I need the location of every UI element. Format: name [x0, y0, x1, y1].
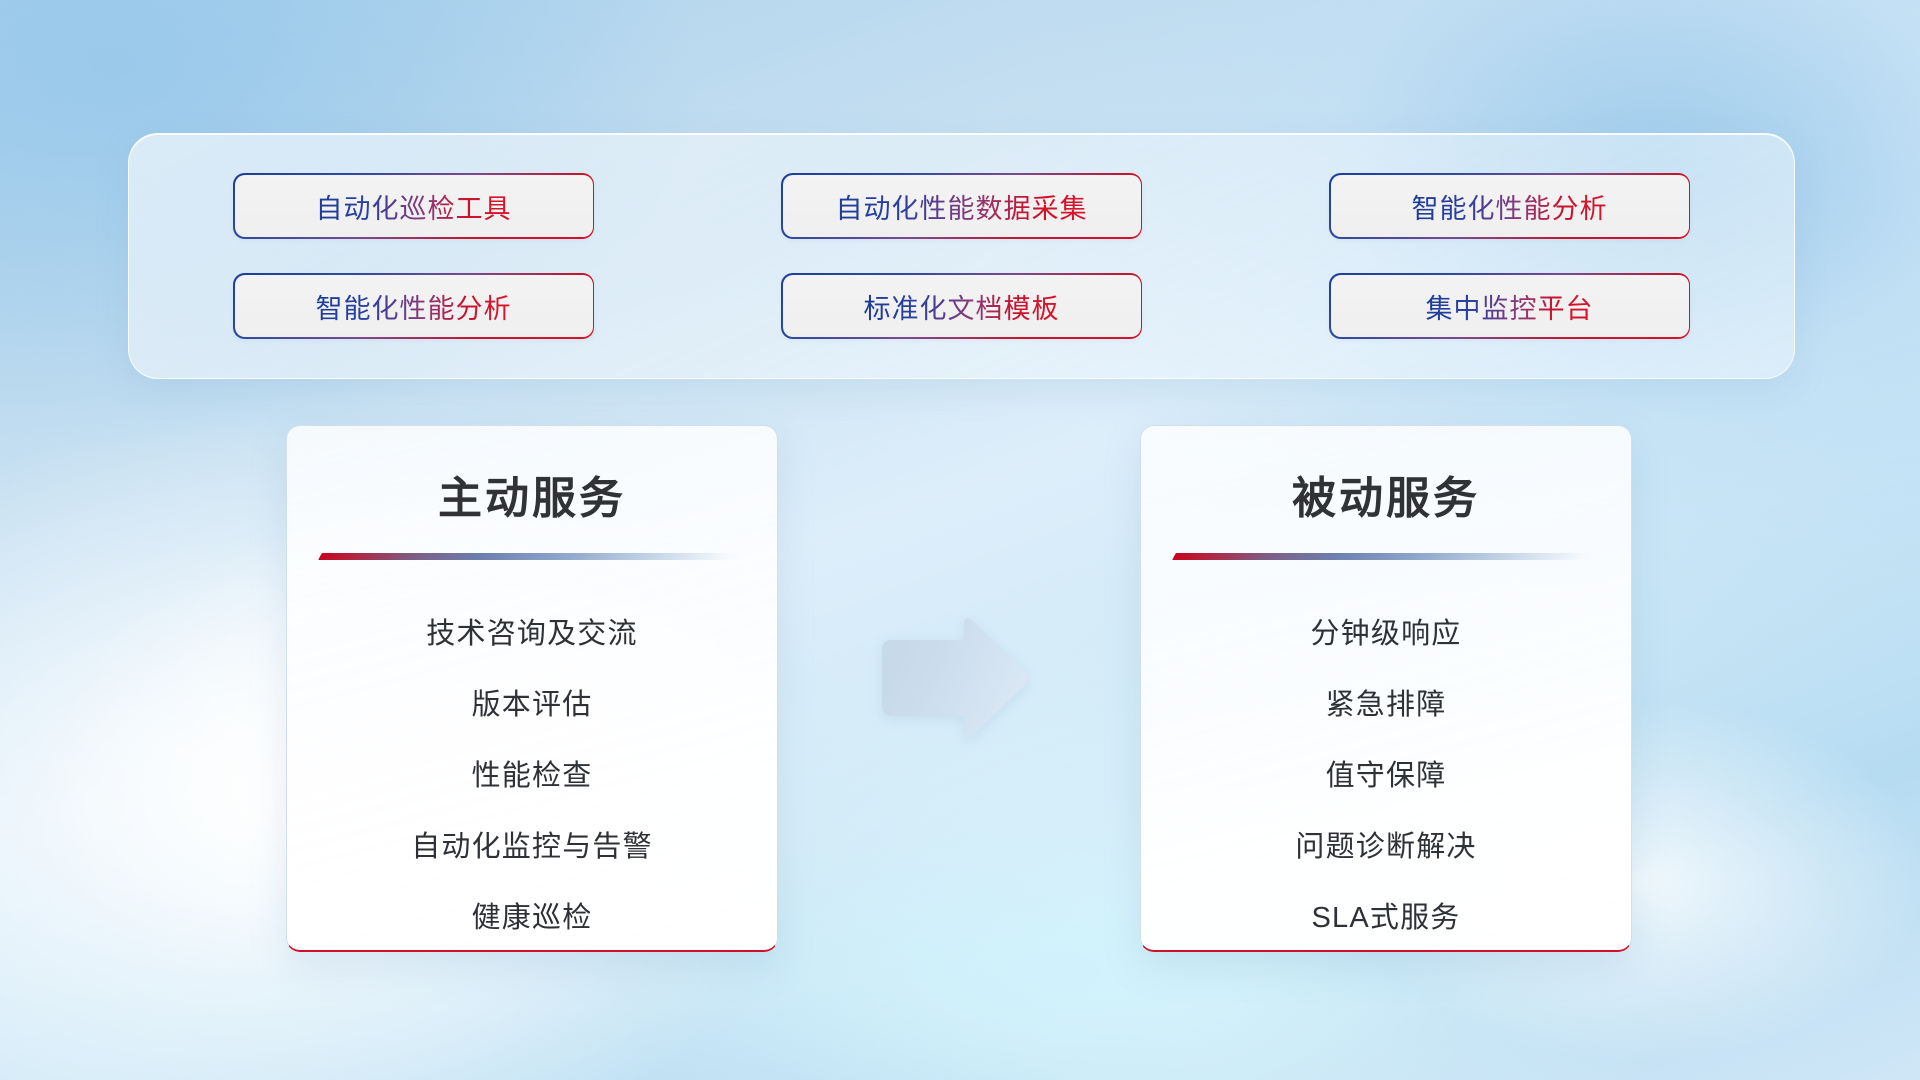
- service-list-item: 分钟级响应: [1141, 599, 1631, 670]
- slide-canvas: 自动化巡检工具 自动化性能数据采集 智能化性能分析 智能化性能分析 标准化文档模…: [0, 0, 1920, 1080]
- capability-chip-grid: 自动化巡检工具 自动化性能数据采集 智能化性能分析 智能化性能分析 标准化文档模…: [235, 175, 1689, 337]
- service-list-item: 紧急排障: [1141, 670, 1631, 741]
- capability-chip-intelligent-performance-analysis-top[interactable]: 智能化性能分析: [1331, 175, 1689, 237]
- chip-label: 智能化性能分析: [1412, 187, 1608, 226]
- service-list-item: SLA式服务: [1141, 883, 1631, 952]
- capability-panel: 自动化巡检工具 自动化性能数据采集 智能化性能分析 智能化性能分析 标准化文档模…: [128, 133, 1795, 379]
- service-card-reactive[interactable]: 被动服务 分钟级响应 紧急排障 值守保障 问题诊断解决 SLA式服务: [1140, 425, 1632, 952]
- chip-label: 标准化文档模板: [864, 287, 1060, 326]
- card-title: 被动服务: [1141, 462, 1631, 526]
- capability-chip-centralized-monitoring-platform[interactable]: 集中监控平台: [1331, 275, 1689, 337]
- service-list-item: 值守保障: [1141, 741, 1631, 812]
- capability-chip-automated-performance-data-collection[interactable]: 自动化性能数据采集: [783, 175, 1141, 237]
- service-list-item: 自动化监控与告警: [287, 812, 777, 883]
- arrow-right-icon: [872, 612, 1032, 744]
- capability-chip-automated-inspection-tool[interactable]: 自动化巡检工具: [235, 175, 593, 237]
- service-list-item: 性能检查: [287, 741, 777, 812]
- service-list-item: 问题诊断解决: [1141, 812, 1631, 883]
- service-item-list: 技术咨询及交流 版本评估 性能检查 自动化监控与告警 健康巡检: [287, 599, 777, 952]
- card-title: 主动服务: [287, 462, 777, 526]
- card-divider: [1174, 551, 1598, 563]
- service-list-item: 健康巡检: [287, 883, 777, 952]
- service-item-list: 分钟级响应 紧急排障 值守保障 问题诊断解决 SLA式服务: [1141, 599, 1631, 952]
- chip-label: 自动化性能数据采集: [836, 187, 1088, 226]
- service-list-item: 技术咨询及交流: [287, 599, 777, 670]
- chip-label: 自动化巡检工具: [316, 187, 512, 226]
- chip-label: 集中监控平台: [1426, 287, 1594, 326]
- card-divider: [320, 551, 744, 563]
- chip-label: 智能化性能分析: [316, 287, 512, 326]
- capability-chip-intelligent-performance-analysis-bottom[interactable]: 智能化性能分析: [235, 275, 593, 337]
- service-card-proactive[interactable]: 主动服务 技术咨询及交流 版本评估 性能检查 自动化监控与告警 健康巡检: [286, 425, 778, 952]
- capability-chip-standardized-document-template[interactable]: 标准化文档模板: [783, 275, 1141, 337]
- service-list-item: 版本评估: [287, 670, 777, 741]
